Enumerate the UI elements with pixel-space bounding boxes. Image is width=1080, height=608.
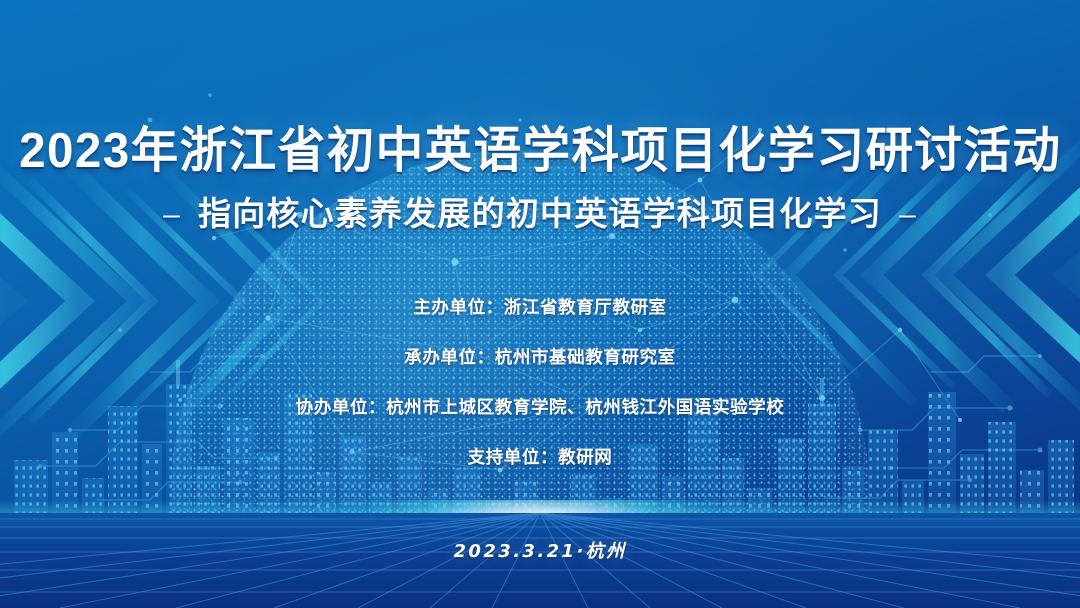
organizer-undertaker: 承办单位：杭州市基础教育研究室 (404, 344, 676, 369)
organizer-host: 主办单位：浙江省教育厅教研室 (413, 294, 666, 319)
page-title: 2023年浙江省初中英语学科项目化学习研讨活动 (19, 126, 1061, 178)
poster-canvas: 2023年浙江省初中英语学科项目化学习研讨活动 – 指向核心素养发展的初中英语学… (0, 0, 1080, 608)
organizer-coorganizer: 协办单位：杭州市上城区教育学院、杭州钱江外国语实验学校 (296, 394, 785, 419)
organizer-list: 主办单位：浙江省教育厅教研室 承办单位：杭州市基础教育研究室 协办单位：杭州市上… (296, 294, 785, 469)
date-location-bar: 2023.3.21·杭州 (0, 537, 1080, 563)
page-subtitle: – 指向核心素养发展的初中英语学科项目化学习 – (163, 196, 917, 232)
subtitle-dash-left: – (163, 198, 181, 231)
organizer-supporter: 支持单位：教研网 (468, 444, 613, 469)
date-location-text: 2023.3.21·杭州 (454, 537, 627, 563)
subtitle-text: 指向核心素养发展的初中英语学科项目化学习 (198, 196, 882, 232)
subtitle-dash-right: – (899, 198, 917, 231)
poster-content: 2023年浙江省初中英语学科项目化学习研讨活动 – 指向核心素养发展的初中英语学… (0, 0, 1080, 608)
